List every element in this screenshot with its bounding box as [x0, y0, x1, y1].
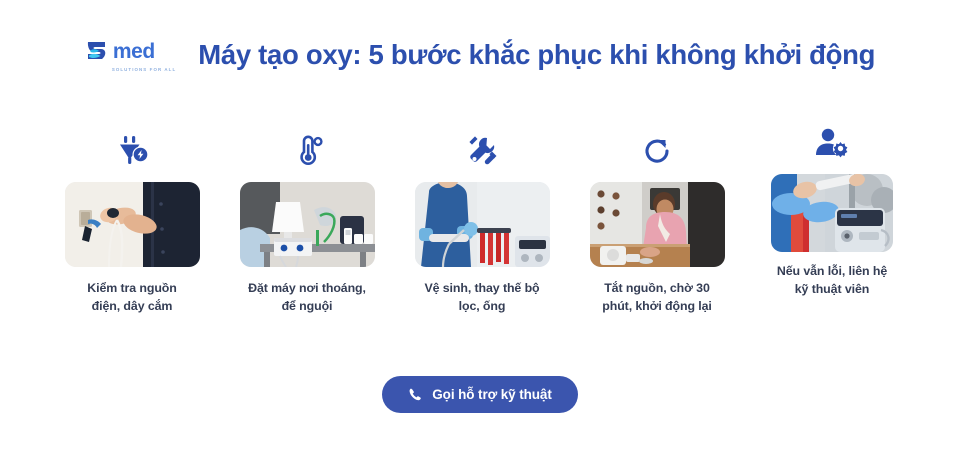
step-caption-1-line1: Kiểm tra nguồn	[87, 281, 176, 295]
step-card-5: Nếu vẫn lỗi, liên hệ kỹ thuật viên	[752, 122, 912, 298]
step-caption-3-line2: lọc, ống	[459, 299, 506, 313]
step-caption-4: Tắt nguồn, chờ 30 phút, khởi động lại	[602, 280, 711, 315]
step-caption-5: Nếu vẫn lỗi, liên hệ kỹ thuật viên	[777, 263, 887, 298]
step-caption-4-line1: Tắt nguồn, chờ 30	[604, 281, 710, 295]
cta-label: Gọi hỗ trợ kỹ thuật	[432, 387, 551, 402]
tools-wrench-screwdriver-icon	[465, 130, 499, 170]
thermometer-degree-icon	[290, 130, 324, 170]
step-caption-5-line1: Nếu vẫn lỗi, liên hệ	[777, 264, 887, 278]
logo-row: med	[85, 38, 155, 64]
restart-arrow-icon	[641, 130, 673, 170]
technician-support-icon	[814, 122, 850, 162]
step-photo-3	[415, 182, 550, 267]
step-caption-2: Đặt máy nơi thoáng, để nguội	[248, 280, 366, 315]
step-card-2: Đặt máy nơi thoáng, để nguội	[227, 130, 387, 315]
step-caption-1: Kiểm tra nguồn điện, dây cắm	[87, 280, 176, 315]
phone-icon	[408, 387, 423, 402]
cta-row: Gọi hỗ trợ kỹ thuật	[0, 376, 960, 413]
step-caption-4-line2: phút, khởi động lại	[602, 299, 711, 313]
step-photo-5	[771, 174, 893, 252]
logo-tagline: SOLUTIONS FOR ALL	[112, 67, 176, 72]
step-caption-2-line2: để nguội	[282, 299, 333, 313]
power-plug-bolt-icon	[113, 130, 151, 170]
s-monogram-icon	[85, 38, 111, 64]
step-card-1: Kiểm tra nguồn điện, dây cắm	[52, 130, 212, 315]
step-caption-3-line1: Vệ sinh, thay thế bộ	[424, 281, 539, 295]
call-support-button[interactable]: Gọi hỗ trợ kỹ thuật	[382, 376, 577, 413]
step-caption-3: Vệ sinh, thay thế bộ lọc, ống	[424, 280, 539, 315]
infographic-page: med SOLUTIONS FOR ALL Máy tạo oxy: 5 bướ…	[0, 0, 960, 459]
brand-logo: med SOLUTIONS FOR ALL	[85, 38, 176, 72]
steps-row: Kiểm tra nguồn điện, dây cắm	[52, 130, 912, 315]
step-photo-1	[65, 182, 200, 267]
step-card-3: Vệ sinh, thay thế bộ lọc, ống	[402, 130, 562, 315]
header: med SOLUTIONS FOR ALL Máy tạo oxy: 5 bướ…	[0, 38, 960, 72]
step-photo-2	[240, 182, 375, 267]
step-photo-4	[590, 182, 725, 267]
page-title: Máy tạo oxy: 5 bước khắc phục khi không …	[198, 39, 875, 71]
step-caption-2-line1: Đặt máy nơi thoáng,	[248, 281, 366, 295]
step-caption-1-line2: điện, dây cắm	[92, 299, 173, 313]
step-card-4: Tắt nguồn, chờ 30 phút, khởi động lại	[577, 130, 737, 315]
logo-wordmark: med	[113, 41, 155, 62]
step-caption-5-line2: kỹ thuật viên	[795, 282, 869, 296]
